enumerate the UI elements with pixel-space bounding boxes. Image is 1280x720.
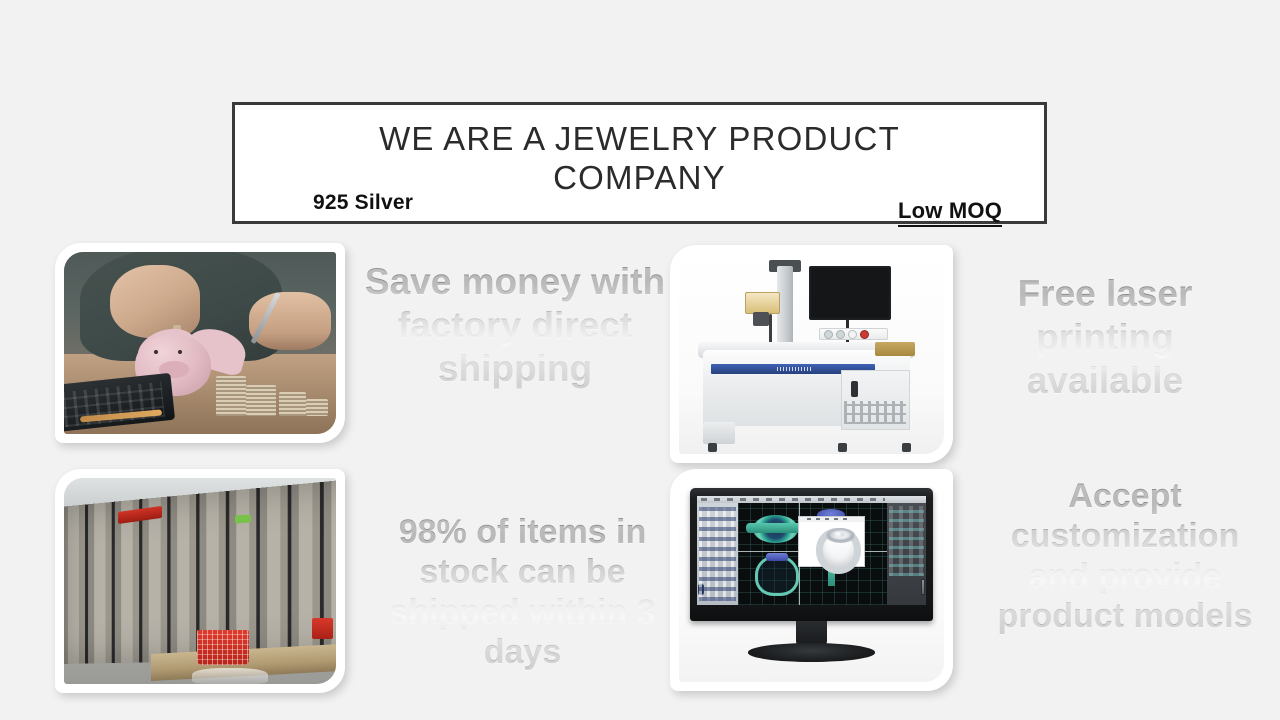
- caster-wheel: [838, 443, 847, 452]
- red-basket: [197, 630, 249, 665]
- feature-image-in-stock-shipping: [55, 469, 345, 693]
- control-button-gray[interactable]: [824, 330, 833, 339]
- caption-in-stock-shipping: 98% of items in stock can be shipped wit…: [375, 512, 670, 672]
- caster-wheel: [902, 443, 911, 452]
- badge-low-moq: Low MOQ: [898, 198, 1002, 227]
- control-panel: [819, 328, 888, 340]
- monitor-screen: [697, 496, 926, 605]
- coin-stack: [246, 385, 276, 416]
- coin-stack: [216, 376, 246, 416]
- control-cabinet: [841, 370, 910, 430]
- slide-canvas: WE ARE A JEWELRY PRODUCT COMPANY 925 Sil…: [0, 0, 1280, 720]
- caption-customization-models: Accept customization and provide product…: [980, 476, 1270, 636]
- calculator-keys: [64, 382, 165, 427]
- cabinet-vents: [844, 401, 906, 424]
- caption-free-laser-printing: Free laser printing available: [980, 272, 1230, 403]
- cad-viewport: [738, 503, 887, 605]
- control-button-gray[interactable]: [836, 330, 845, 339]
- warehouse-photo: [64, 478, 336, 684]
- page-title: WE ARE A JEWELRY PRODUCT COMPANY: [235, 119, 1044, 197]
- render-window-titlebar: [799, 517, 864, 522]
- feature-image-customization-models: [670, 469, 953, 691]
- feature-image-save-money: [55, 243, 345, 443]
- caption-save-money: Save money with factory direct shipping: [360, 260, 670, 391]
- cad-left-toolbar: [697, 503, 738, 605]
- worktable-tan-panel: [875, 342, 915, 356]
- feature-image-free-laser-printing: [670, 245, 953, 463]
- green-item: [235, 515, 251, 524]
- badge-925-silver: 925 Silver: [313, 191, 413, 215]
- render-preview-window: [798, 516, 865, 567]
- cabinet-handle: [851, 381, 858, 396]
- piggy-bank-photo: [64, 252, 336, 434]
- rendered-diamond-ring: [816, 528, 861, 574]
- laser-source-head: [745, 292, 779, 314]
- machine-monitor: [809, 266, 891, 320]
- packaged-goods: [192, 668, 268, 684]
- laser-lens: [753, 312, 769, 326]
- ring-front-view: [755, 555, 800, 596]
- red-basket-secondary: [312, 618, 334, 639]
- emergency-stop-button[interactable]: [860, 330, 869, 339]
- cad-gumball-dial: [698, 578, 703, 600]
- photo-inner-piggy-bank: [64, 252, 336, 434]
- coin-stack: [306, 399, 328, 415]
- caster-wheel: [708, 443, 717, 452]
- photo-inner-cad-monitor: [679, 478, 944, 682]
- cad-material-thumbnail: [921, 579, 925, 594]
- left-hand: [110, 265, 200, 338]
- photo-inner-warehouse: [64, 478, 336, 684]
- monitor-base: [748, 643, 875, 661]
- control-button-white[interactable]: [848, 330, 857, 339]
- coin-stack: [279, 392, 306, 416]
- photo-inner-laser-machine: [679, 254, 944, 454]
- cad-monitor-photo: [679, 478, 944, 682]
- cad-right-panel: [887, 503, 926, 605]
- monitor-bezel: [690, 488, 934, 621]
- ring-band-wireframe: [746, 523, 806, 533]
- foot-pedal: [703, 422, 735, 444]
- title-banner: WE ARE A JEWELRY PRODUCT COMPANY 925 Sil…: [232, 102, 1047, 224]
- laser-marking-machine-photo: [679, 254, 944, 454]
